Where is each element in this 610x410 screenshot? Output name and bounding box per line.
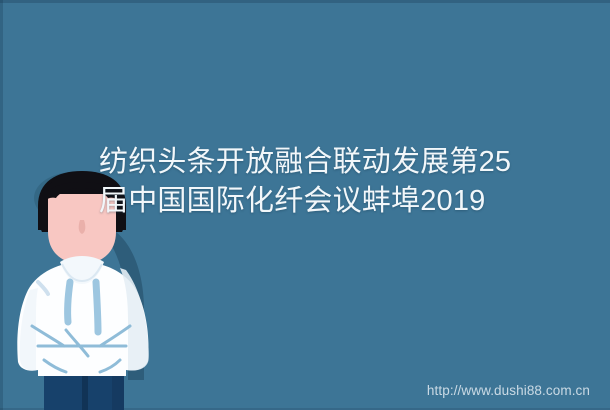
top-edge-shade bbox=[0, 0, 610, 3]
article-cover-image: 纺织头条开放融合联动发展第25 届中国国际化纤会议蚌埠2019 http://w… bbox=[0, 0, 610, 410]
drawstring-left bbox=[68, 282, 70, 322]
headline-line-1: 纺织头条开放融合联动发展第25 bbox=[99, 143, 569, 182]
watermark-url: http://www.dushi88.com.cn bbox=[427, 383, 590, 398]
left-edge-shade bbox=[0, 0, 3, 410]
headline-text: 纺织头条开放融合联动发展第25 届中国国际化纤会议蚌埠2019 bbox=[99, 143, 569, 221]
drawstring-right bbox=[96, 282, 98, 332]
headline-line-2: 届中国国际化纤会议蚌埠2019 bbox=[99, 182, 569, 221]
